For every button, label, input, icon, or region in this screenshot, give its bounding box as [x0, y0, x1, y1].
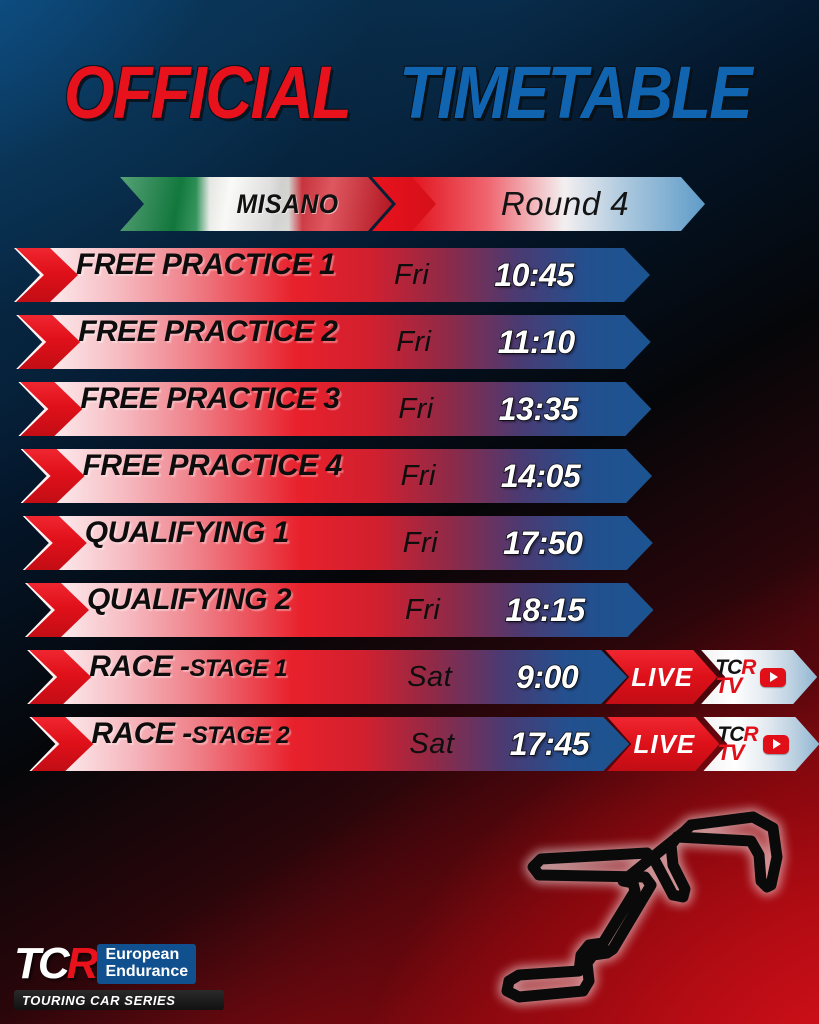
- logo-top-row: TCR European Endurance: [14, 940, 254, 988]
- session-name-main: RACE -: [89, 650, 189, 684]
- session-day: Fri: [401, 449, 436, 503]
- page-title: OFFICIALTIMETABLE: [0, 56, 819, 130]
- title-official: OFFICIAL: [64, 56, 355, 130]
- session-row[interactable]: QUALIFYING 1Fri17:50: [0, 516, 819, 570]
- youtube-play-icon[interactable]: [763, 735, 789, 754]
- event-header-banner: MISANO Round 4: [120, 177, 705, 231]
- logo-line-european: European: [105, 947, 188, 963]
- session-day: Fri: [396, 315, 431, 369]
- session-time: 14:05: [481, 449, 601, 503]
- logo-line-endurance: Endurance: [105, 964, 188, 980]
- live-label: LIVE: [621, 717, 707, 771]
- logo-tc-text: TC: [14, 939, 67, 988]
- session-list: FREE PRACTICE 1Fri10:45FREE PRACTICE 2Fr…: [0, 248, 819, 784]
- session-row[interactable]: FREE PRACTICE 4Fri14:05: [0, 449, 819, 503]
- session-name: QUALIFYING 2: [87, 583, 291, 637]
- title-timetable: TIMETABLE: [399, 56, 751, 130]
- session-day: Sat: [407, 650, 452, 704]
- live-badge[interactable]: LIVETCRTV: [607, 717, 819, 771]
- session-time: 9:00: [487, 650, 607, 704]
- session-time: 11:10: [476, 315, 596, 369]
- session-time: 10:45: [474, 248, 594, 302]
- tcr-tv-logo[interactable]: TCRTV: [715, 650, 815, 704]
- european-endurance-badge: European Endurance: [97, 944, 196, 984]
- session-day: Fri: [403, 516, 438, 570]
- session-name-main: RACE -: [91, 717, 191, 751]
- live-label: LIVE: [619, 650, 705, 704]
- session-day: Fri: [394, 248, 429, 302]
- session-row[interactable]: FREE PRACTICE 1Fri10:45: [0, 248, 819, 302]
- venue-text: MISANO: [236, 189, 338, 220]
- session-name: FREE PRACTICE 1: [76, 248, 335, 302]
- timetable-poster: OFFICIALTIMETABLE MISANO Round 4 FREE PR…: [0, 0, 819, 1024]
- tcr-european-endurance-logo: TCR European Endurance TOURING CAR SERIE…: [14, 940, 254, 1012]
- tcr-tv-logo[interactable]: TCRTV: [717, 717, 817, 771]
- session-time: 17:45: [489, 717, 609, 771]
- venue-label: MISANO: [192, 177, 382, 231]
- session-row[interactable]: RACE - STAGE 2Sat17:45LIVETCRTV: [0, 717, 819, 771]
- tcr-tv-line2: TV: [717, 744, 757, 763]
- session-time: 18:15: [485, 583, 605, 637]
- tcr-wordmark: TCR: [14, 942, 95, 986]
- logo-tagline: TOURING CAR SERIES: [14, 990, 224, 1010]
- session-name: RACE - STAGE 1: [89, 650, 287, 704]
- session-day: Fri: [398, 382, 433, 436]
- round-label: Round 4: [450, 177, 680, 231]
- session-name: FREE PRACTICE 4: [83, 449, 342, 503]
- logo-r-text: R: [67, 939, 96, 988]
- session-time: 17:50: [483, 516, 603, 570]
- session-name: FREE PRACTICE 3: [80, 382, 339, 436]
- tcr-tv-line2: TV: [715, 677, 755, 696]
- session-day: Fri: [405, 583, 440, 637]
- session-name: QUALIFYING 1: [85, 516, 289, 570]
- session-row[interactable]: FREE PRACTICE 3Fri13:35: [0, 382, 819, 436]
- tcr-tv-wordmark: TCRTV: [715, 659, 755, 696]
- session-row[interactable]: FREE PRACTICE 2Fri11:10: [0, 315, 819, 369]
- session-name-stage: STAGE 2: [192, 722, 289, 750]
- youtube-play-icon[interactable]: [760, 668, 786, 687]
- tcr-tv-wordmark: TCRTV: [717, 726, 757, 763]
- session-time: 13:35: [478, 382, 598, 436]
- session-row[interactable]: RACE - STAGE 1Sat9:00LIVETCRTV: [0, 650, 819, 704]
- session-name: FREE PRACTICE 2: [78, 315, 337, 369]
- misano-circuit-outline: [495, 795, 815, 1024]
- live-badge[interactable]: LIVETCRTV: [605, 650, 819, 704]
- session-row[interactable]: QUALIFYING 2Fri18:15: [0, 583, 819, 637]
- session-day: Sat: [409, 717, 454, 771]
- session-name: RACE - STAGE 2: [91, 717, 289, 771]
- session-name-stage: STAGE 1: [190, 655, 287, 683]
